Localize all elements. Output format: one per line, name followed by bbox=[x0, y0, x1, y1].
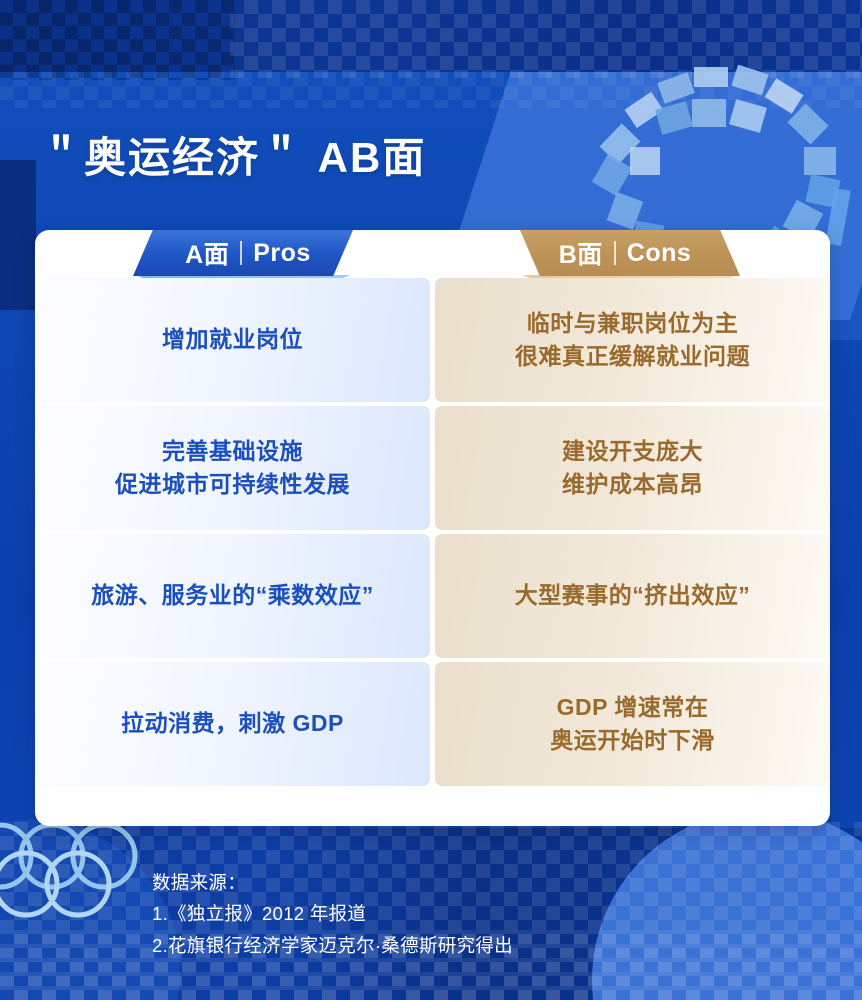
background-left-column bbox=[0, 160, 36, 310]
tab-cons-label: Cons bbox=[627, 239, 692, 268]
cell-line: 拉动消费，刺激 GDP bbox=[121, 707, 344, 740]
page-title: ＂奥运经济＂ AB面 bbox=[40, 124, 426, 185]
tab-cons[interactable]: B面 Cons bbox=[520, 230, 740, 276]
cell-line: 奥运开始时下滑 bbox=[550, 724, 715, 757]
tab-cons-tag: B面 bbox=[559, 235, 603, 271]
cell-line: 完善基础设施 bbox=[115, 435, 350, 468]
cell-line: 旅游、服务业的“乘数效应” bbox=[91, 579, 374, 612]
cell-line: 增加就业岗位 bbox=[162, 323, 303, 356]
cell-line: 促进城市可持续性发展 bbox=[115, 468, 350, 501]
tab-cons-separator bbox=[614, 241, 616, 265]
comparison-cell-cons: GDP 增速常在奥运开始时下滑 bbox=[435, 662, 830, 786]
cell-line: 很难真正缓解就业问题 bbox=[515, 340, 750, 373]
comparison-cell-cons: 建设开支庞大维护成本高昂 bbox=[435, 406, 830, 530]
data-source-item: 2.花旗银行经济学家迈克尔·桑德斯研究得出 bbox=[152, 930, 513, 962]
cell-line: 建设开支庞大 bbox=[562, 435, 703, 468]
comparison-cell-pros: 完善基础设施促进城市可持续性发展 bbox=[35, 406, 430, 530]
cell-line: 大型赛事的“挤出效应” bbox=[515, 579, 751, 612]
column-headers: A面 Pros B面 Cons bbox=[35, 230, 830, 278]
comparison-card: A面 Pros B面 Cons 增加就业岗位临时与兼职岗位为主很难真正缓解就业问… bbox=[35, 230, 830, 826]
data-source-item: 1.《独立报》2012 年报道 bbox=[152, 898, 513, 930]
comparison-cell-pros: 拉动消费，刺激 GDP bbox=[35, 662, 430, 786]
olympic-rings-icon bbox=[0, 814, 172, 924]
data-source: 数据来源： 1.《独立报》2012 年报道 2.花旗银行经济学家迈克尔·桑德斯研… bbox=[152, 867, 513, 962]
comparison-cell-pros: 增加就业岗位 bbox=[35, 278, 430, 402]
tab-pros[interactable]: A面 Pros bbox=[133, 230, 353, 276]
cell-line: 维护成本高昂 bbox=[562, 468, 703, 501]
comparison-cell-cons: 大型赛事的“挤出效应” bbox=[435, 534, 830, 658]
comparison-cell-pros: 旅游、服务业的“乘数效应” bbox=[35, 534, 430, 658]
cell-line: GDP 增速常在 bbox=[550, 691, 715, 724]
tab-pros-tag: A面 bbox=[185, 235, 229, 271]
tab-pros-separator bbox=[240, 241, 242, 265]
cell-line: 临时与兼职岗位为主 bbox=[515, 307, 750, 340]
comparison-cell-cons: 临时与兼职岗位为主很难真正缓解就业问题 bbox=[435, 278, 830, 402]
data-source-heading: 数据来源： bbox=[152, 867, 513, 899]
tab-pros-label: Pros bbox=[253, 239, 311, 268]
comparison-grid: 增加就业岗位临时与兼职岗位为主很难真正缓解就业问题完善基础设施促进城市可持续性发… bbox=[35, 278, 830, 786]
